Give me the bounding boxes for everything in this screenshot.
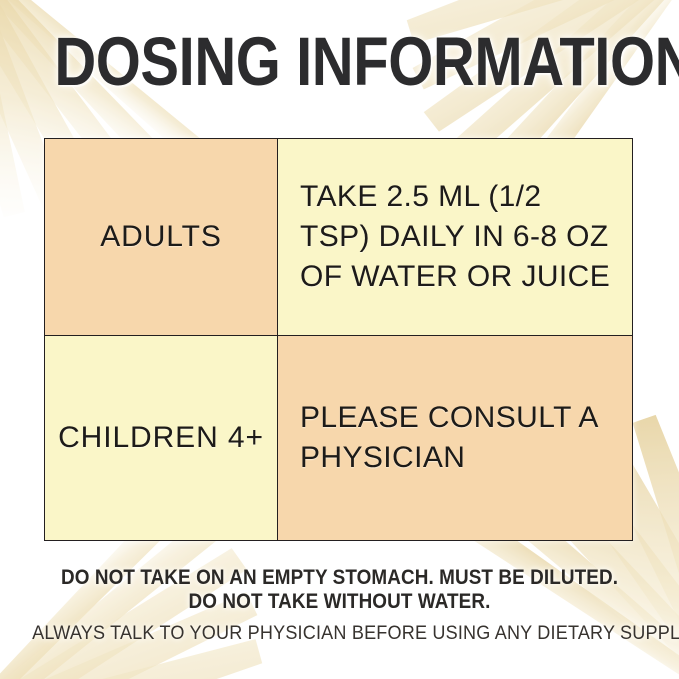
page-title: DOSING INFORMATION xyxy=(54,26,624,98)
dose-instruction-adults: TAKE 2.5 ML (1/2 TSP) DAILY IN 6-8 OZ OF… xyxy=(278,177,632,297)
warning-text: DO NOT TAKE ON AN EMPTY STOMACH. MUST BE… xyxy=(48,566,630,614)
disclaimer-text: ALWAYS TALK TO YOUR PHYSICIAN BEFORE USI… xyxy=(32,622,647,645)
table-cell-dose-instruction: TAKE 2.5 ML (1/2 TSP) DAILY IN 6-8 OZ OF… xyxy=(278,139,633,336)
dosing-information-graphic: DOSING INFORMATION ADULTS TAKE 2.5 ML (1… xyxy=(0,0,679,679)
dosing-table: ADULTS TAKE 2.5 ML (1/2 TSP) DAILY IN 6-… xyxy=(44,138,633,541)
table-cell-group-label: ADULTS xyxy=(45,139,278,336)
table-cell-dose-instruction: PLEASE CONSULT A PHYSICIAN xyxy=(278,336,633,541)
table-row: CHILDREN 4+ PLEASE CONSULT A PHYSICIAN xyxy=(45,336,633,541)
table-cell-group-label: CHILDREN 4+ xyxy=(45,336,278,541)
table-row: ADULTS TAKE 2.5 ML (1/2 TSP) DAILY IN 6-… xyxy=(45,139,633,336)
group-label-children: CHILDREN 4+ xyxy=(45,419,277,457)
group-label-adults: ADULTS xyxy=(45,218,277,256)
dose-instruction-children: PLEASE CONSULT A PHYSICIAN xyxy=(278,398,632,478)
